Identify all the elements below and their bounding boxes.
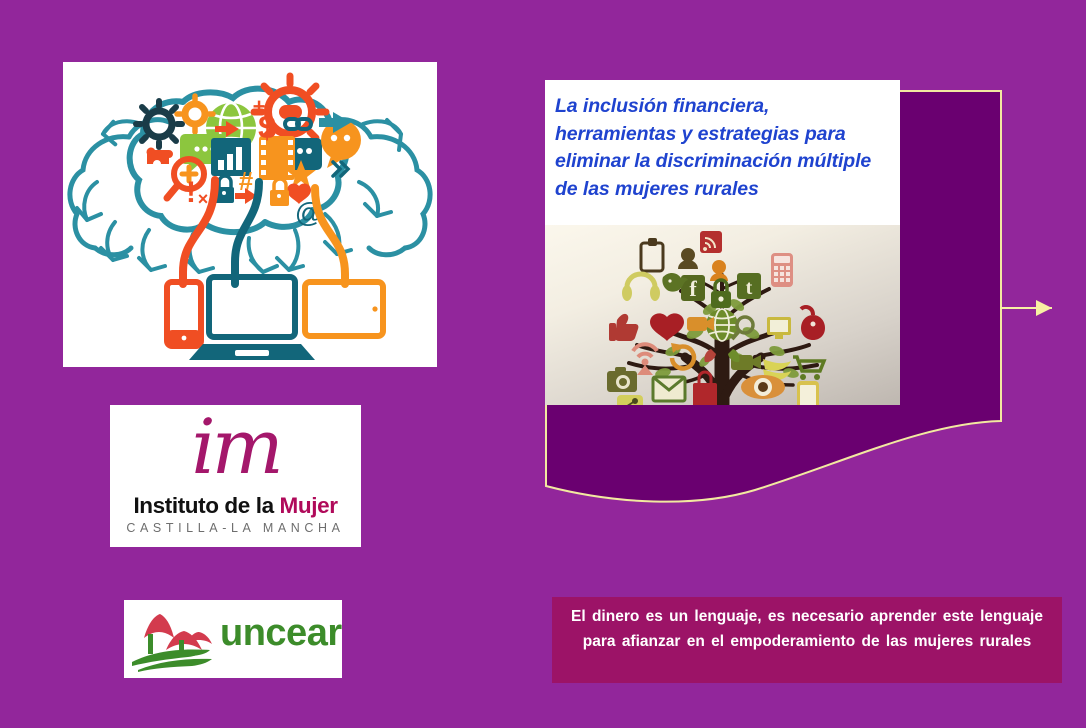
laptop-icon — [209, 277, 295, 337]
chef-icon — [681, 248, 695, 262]
svg-text:×: × — [198, 189, 209, 209]
user-icon — [712, 260, 726, 274]
instituto-logo-line2: CASTILLA-LA MANCHA — [110, 521, 361, 535]
page-title: La inclusión financiera, herramientas y … — [545, 80, 900, 204]
title-card: La inclusión financiera, herramientas y … — [545, 80, 900, 405]
cloud-computing-illustration: $ + — [63, 62, 437, 367]
plus-icon: + — [253, 94, 266, 119]
clipboard-icon — [641, 243, 663, 271]
im-monogram-icon: im — [110, 409, 361, 485]
thumbs-up-icon — [615, 314, 638, 341]
gear-dark-icon — [136, 101, 182, 147]
svg-text:t: t — [746, 277, 753, 299]
video-camera-icon — [687, 317, 707, 331]
instituto-logo-line1-part1: Instituto de la — [133, 493, 279, 518]
puzzle-icon — [147, 148, 173, 164]
exclamation-icon: ! — [186, 176, 196, 209]
instituto-logo-line1: Instituto de la Mujer — [110, 493, 361, 519]
uncear-logo: uncear — [124, 600, 342, 678]
lock-orange-icon — [270, 190, 289, 206]
headphones-icon — [627, 274, 655, 287]
instituto-logo-line1-part2: Mujer — [280, 493, 338, 518]
svg-text:f: f — [689, 276, 697, 301]
instituto-de-la-mujer-logo: im Instituto de la Mujer CASTILLA-LA MAN… — [110, 405, 361, 547]
quote-banner: El dinero es un lenguaje, es necesario a… — [552, 597, 1062, 683]
social-media-tree-image: f t — [545, 225, 900, 405]
slide-canvas: La inclusión financiera, herramientas y … — [0, 0, 1086, 728]
tablet-icon — [305, 282, 383, 336]
mouse-icon — [801, 315, 825, 340]
uncear-wordmark: uncear — [220, 614, 342, 652]
shopping-bag-icon — [693, 383, 717, 405]
